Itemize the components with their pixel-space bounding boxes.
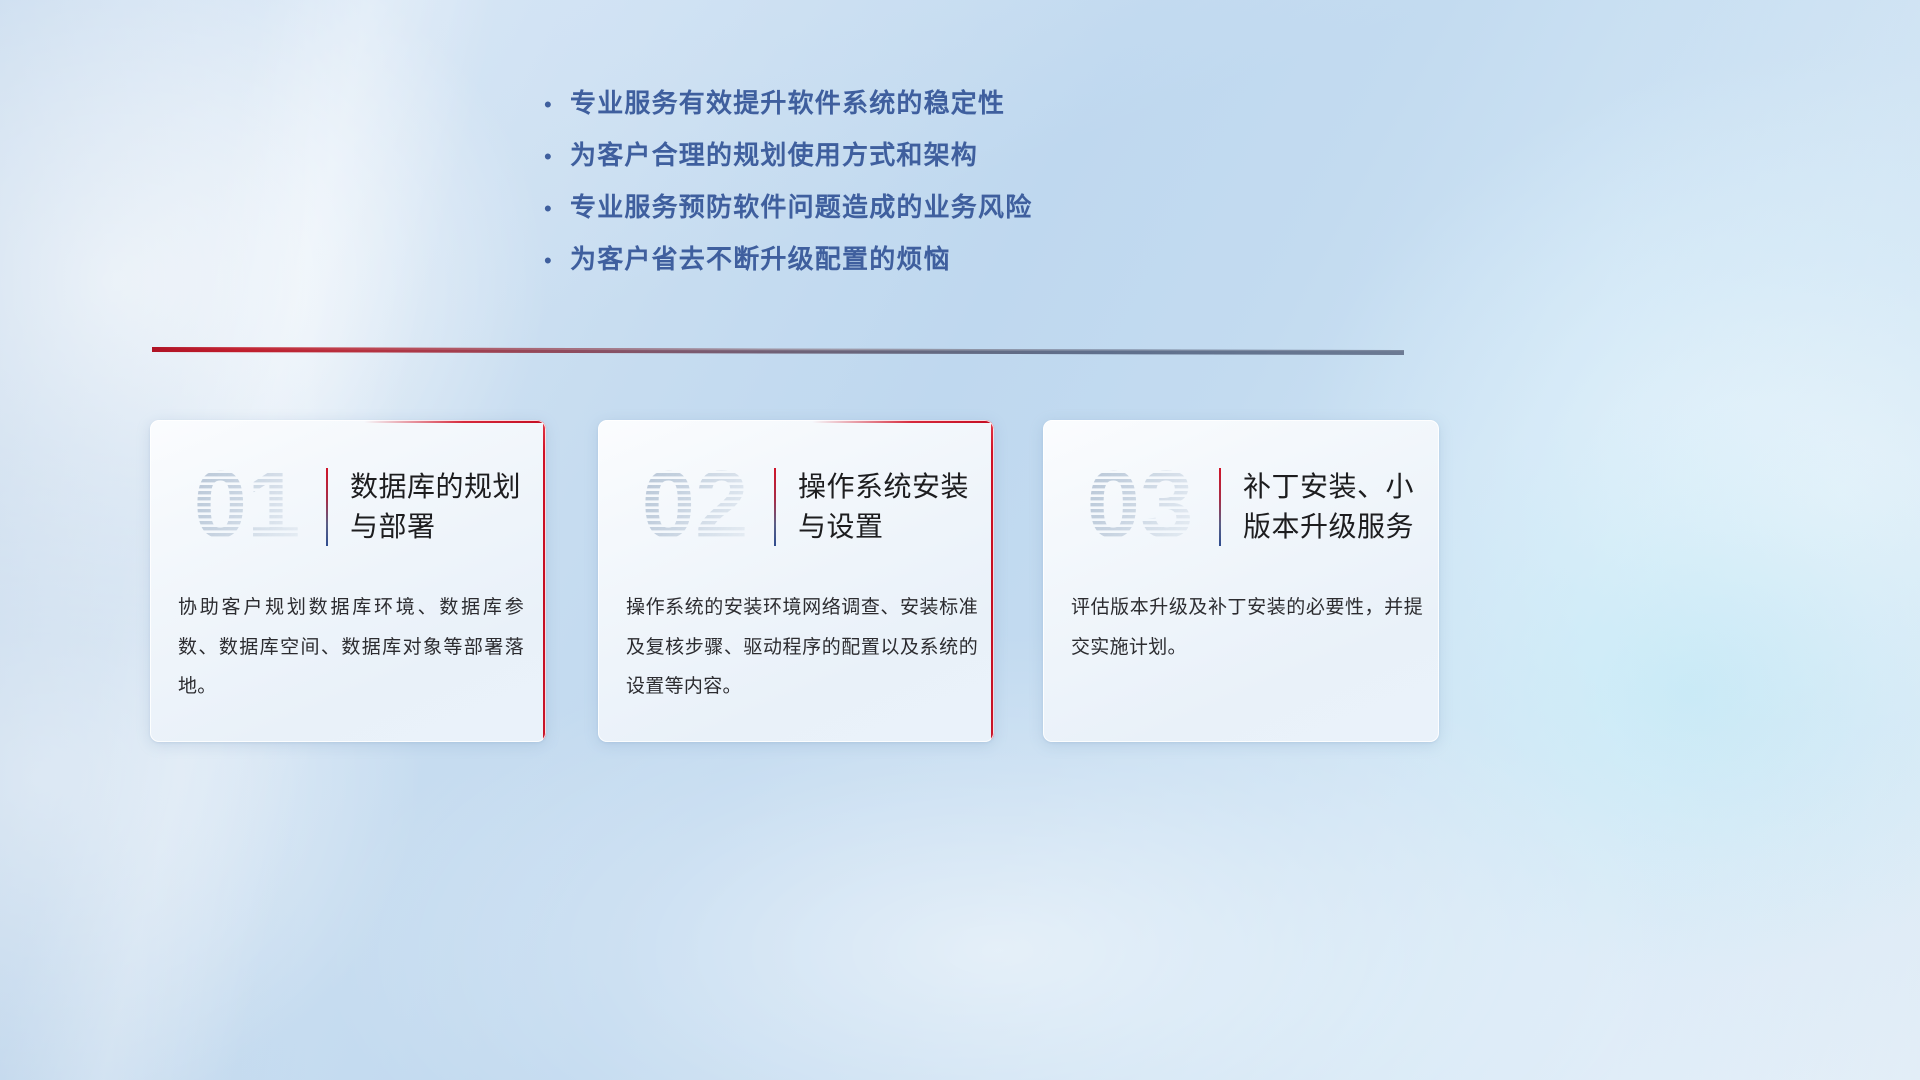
bullet-label: 为客户合理的规划使用方式和架构: [570, 142, 978, 168]
service-card[interactable]: 03 补丁安装、小版本升级服务 评估版本升级及补丁安装的必要性，并提交实施计划。: [1043, 420, 1439, 742]
section-divider: [152, 344, 1404, 360]
bullet-label: 专业服务预防软件问题造成的业务风险: [570, 194, 1032, 220]
service-card-group: 01 数据库的规划与部署 协助客户规划数据库环境、数据库参数、数据库空间、数据库…: [150, 420, 1460, 750]
card-title: 补丁安装、小版本升级服务: [1243, 467, 1428, 547]
bullet-dot-icon: •: [540, 250, 570, 272]
card-header: 03 补丁安装、小版本升级服务: [1043, 448, 1439, 566]
card-accent-top-edge: [364, 420, 546, 423]
card-number-watermark: 03: [1065, 455, 1215, 559]
bullet-dot-icon: •: [540, 94, 570, 116]
bullet-dot-icon: •: [540, 146, 570, 168]
list-item: • 专业服务预防软件问题造成的业务风险: [540, 194, 1240, 246]
svg-text:02: 02: [642, 455, 749, 558]
card-title: 操作系统安装与设置: [798, 467, 983, 547]
svg-text:03: 03: [1087, 455, 1194, 558]
benefits-bullet-list: • 专业服务有效提升软件系统的稳定性 • 为客户合理的规划使用方式和架构 • 专…: [540, 90, 1240, 298]
card-title: 数据库的规划与部署: [350, 467, 535, 547]
card-accent-top-edge: [812, 420, 994, 423]
service-card[interactable]: 01 数据库的规划与部署 协助客户规划数据库环境、数据库参数、数据库空间、数据库…: [150, 420, 546, 742]
card-header: 02 操作系统安装与设置: [598, 448, 994, 566]
card-description: 协助客户规划数据库环境、数据库参数、数据库空间、数据库对象等部署落地。: [178, 588, 524, 707]
card-description: 操作系统的安装环境网络调查、安装标准及复核步骤、驱动程序的配置以及系统的设置等内…: [626, 588, 978, 707]
bullet-label: 为客户省去不断升级配置的烦恼: [570, 246, 951, 272]
service-card[interactable]: 02 操作系统安装与设置 操作系统的安装环境网络调查、安装标准及复核步骤、驱动程…: [598, 420, 994, 742]
svg-text:01: 01: [194, 455, 301, 558]
list-item: • 为客户合理的规划使用方式和架构: [540, 142, 1240, 194]
card-description: 评估版本升级及补丁安装的必要性，并提交实施计划。: [1071, 588, 1423, 667]
card-title-divider: [774, 468, 776, 546]
bullet-label: 专业服务有效提升软件系统的稳定性: [570, 90, 1005, 116]
card-number-watermark: 01: [172, 455, 322, 559]
bullet-dot-icon: •: [540, 198, 570, 220]
list-item: • 为客户省去不断升级配置的烦恼: [540, 246, 1240, 298]
card-header: 01 数据库的规划与部署: [150, 448, 546, 566]
list-item: • 专业服务有效提升软件系统的稳定性: [540, 90, 1240, 142]
card-title-divider: [326, 468, 328, 546]
card-number-watermark: 02: [620, 455, 770, 559]
card-title-divider: [1219, 468, 1221, 546]
